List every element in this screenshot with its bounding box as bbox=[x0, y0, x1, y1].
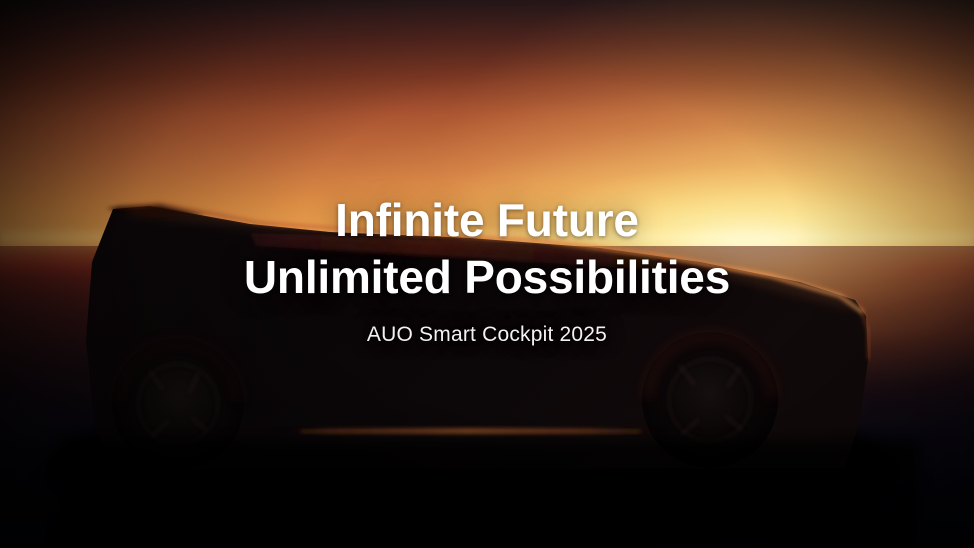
vignette-layer bbox=[0, 0, 974, 548]
hero-scene: Infinite Future Unlimited Possibilities … bbox=[0, 0, 974, 548]
